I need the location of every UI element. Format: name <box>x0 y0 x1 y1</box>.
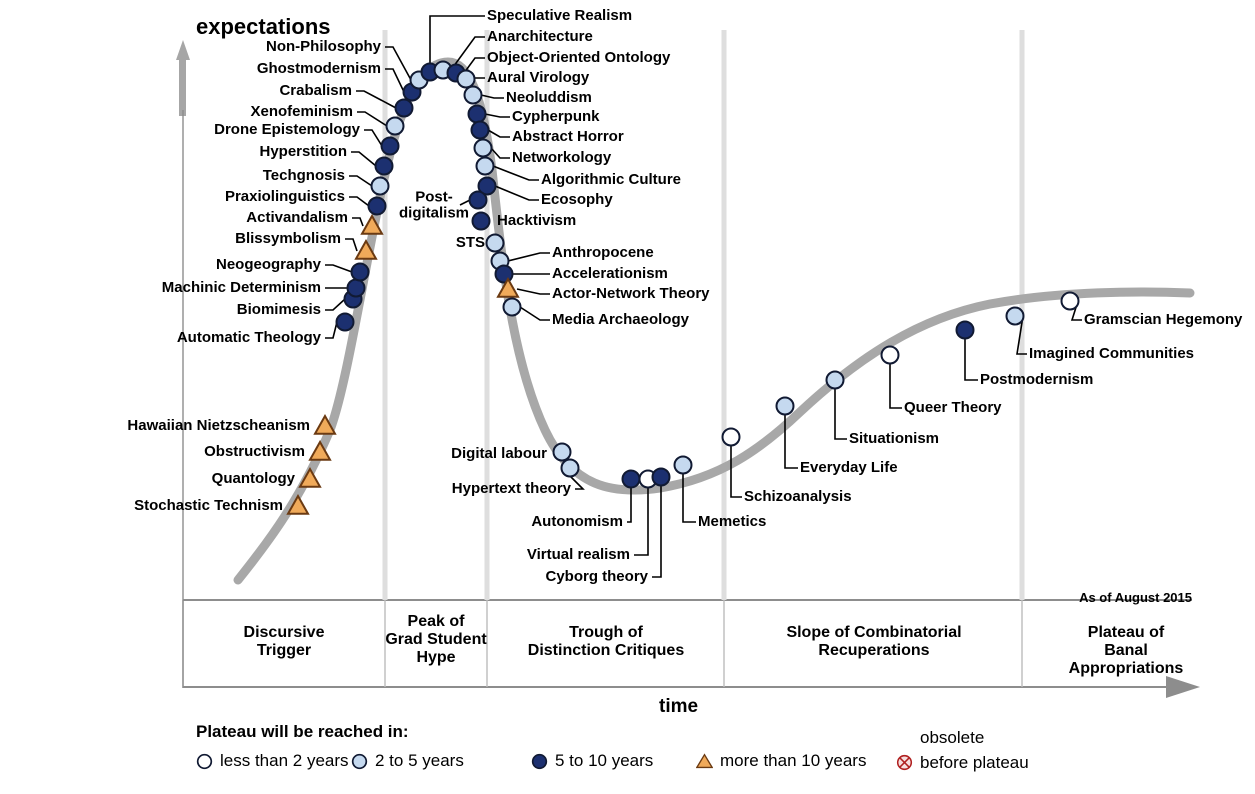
triangle-orange-icon <box>696 753 713 770</box>
marker-drone-epistemology[interactable] <box>382 138 399 155</box>
marker-situationism[interactable] <box>827 372 844 389</box>
leader-line-crabalism <box>356 91 396 108</box>
label-post-digitalism: Post-digitalism <box>399 189 469 221</box>
marker-media-archaeology[interactable] <box>504 299 521 316</box>
phase-plateau-banal-appropriations-line-0: Plateau of <box>1062 624 1191 642</box>
label-machinic-determinism: Machinic Determinism <box>162 280 321 296</box>
x-axis-title: time <box>659 696 698 718</box>
circle-open-icon <box>196 753 213 770</box>
marker-automatic-theology[interactable] <box>337 314 354 331</box>
leader-line-neoluddism <box>481 95 504 98</box>
label-praxiolinguistics: Praxiolinguistics <box>225 189 345 205</box>
leader-line-techgnosis <box>349 176 372 186</box>
leader-line-actor-network-theory <box>517 289 550 294</box>
leader-line-algorithmic-culture <box>493 166 539 180</box>
phase-trough-distinction-critiques-line-0: Trough of <box>528 624 684 642</box>
circle-light-icon <box>351 753 368 770</box>
label-obstructivism: Obstructivism <box>204 444 305 460</box>
phase-peak-grad-student-hype-line-1: Grad Student <box>385 631 486 649</box>
label-biomimesis: Biomimesis <box>237 302 321 318</box>
leader-line-ecosophy <box>495 186 539 200</box>
leader-line-cyborg-theory <box>652 486 661 577</box>
phase-peak-grad-student-hype-line-0: Peak of <box>385 613 486 631</box>
phase-discursive-trigger: DiscursiveTrigger <box>244 624 325 660</box>
label-crabalism: Crabalism <box>279 83 352 99</box>
legend-obsolete-line1: obsolete <box>920 729 984 747</box>
label-virtual-realism: Virtual realism <box>527 547 630 563</box>
leader-line-hyperstition <box>351 152 376 166</box>
legend-item-2-to-5-years[interactable]: 2 to 5 years <box>351 751 464 771</box>
label-situationism: Situationism <box>849 431 939 447</box>
label-sts: STS <box>456 235 485 251</box>
label-drone-epistemology: Drone Epistemology <box>214 122 360 138</box>
hype-cycle-chart: expectations time As of August 2015 Stoc… <box>0 0 1255 794</box>
marker-schizoanalysis[interactable] <box>723 429 740 446</box>
leader-line-activandalism <box>352 218 363 226</box>
marker-imagined-communities[interactable] <box>1007 308 1024 325</box>
marker-hypertext-theory[interactable] <box>562 460 579 477</box>
leader-line-biomimesis <box>325 299 345 310</box>
marker-praxiolinguistics[interactable] <box>369 198 386 215</box>
marker-cyborg-theory[interactable] <box>653 469 670 486</box>
leader-line-praxiolinguistics <box>349 197 369 206</box>
obsolete-circle-cross-icon <box>896 754 913 771</box>
leader-line-automatic-theology <box>325 322 337 338</box>
label-hacktivism: Hacktivism <box>497 213 576 229</box>
label-algorithmic-culture: Algorithmic Culture <box>541 172 681 188</box>
leader-line-anthropocene <box>508 253 550 261</box>
leader-line-virtual-realism <box>634 488 648 555</box>
marker-cypherpunk[interactable] <box>469 106 486 123</box>
label-non-philosophy: Non-Philosophy <box>266 39 381 55</box>
label-actor-network-theory: Actor-Network Theory <box>552 286 710 302</box>
label-networkology: Networkology <box>512 150 611 166</box>
label-techgnosis: Techgnosis <box>263 168 345 184</box>
label-speculative-realism: Speculative Realism <box>487 8 632 24</box>
leader-line-ghostmodernism <box>385 69 404 92</box>
legend-item-obsolete-before-plateau[interactable]: obsoletebefore plateau <box>896 729 1029 772</box>
leader-line-drone-epistemology <box>364 130 382 146</box>
label-everyday-life: Everyday Life <box>800 460 898 476</box>
marker-hacktivism[interactable] <box>473 213 490 230</box>
marker-algorithmic-culture[interactable] <box>477 158 494 175</box>
label-abstract-horror: Abstract Horror <box>512 129 624 145</box>
marker-hyperstition[interactable] <box>376 158 393 175</box>
legend-items: less than 2 years2 to 5 years5 to 10 yea… <box>196 751 1226 785</box>
marker-digital-labour[interactable] <box>554 444 571 461</box>
marker-neoluddism[interactable] <box>465 87 482 104</box>
marker-gramscian-hegemony[interactable] <box>1062 293 1079 310</box>
phase-discursive-trigger-line-0: Discursive <box>244 624 325 642</box>
as-of-date: As of August 2015 <box>1079 590 1192 605</box>
phase-discursive-trigger-line-1: Trigger <box>244 642 325 660</box>
phase-trough-distinction-critiques-line-1: Distinction Critiques <box>528 642 684 660</box>
leader-line-blissymbolism <box>345 239 357 251</box>
label-digital-labour: Digital labour <box>451 446 547 462</box>
leader-line-situationism <box>835 389 847 439</box>
legend-item-label: more than 10 years <box>720 751 866 771</box>
marker-neogeography[interactable] <box>352 264 369 281</box>
marker-memetics[interactable] <box>675 457 692 474</box>
leader-line-non-philosophy <box>385 47 411 80</box>
label-cyborg-theory: Cyborg theory <box>545 569 648 585</box>
phase-plateau-banal-appropriations: Plateau ofBanal Appropriations <box>1062 624 1191 678</box>
label-autonomism: Autonomism <box>531 514 623 530</box>
phase-slope-combinatorial-recuperations-line-1: Recuperations <box>786 642 961 660</box>
label-anarchitecture: Anarchitecture <box>487 29 593 45</box>
marker-queer-theory[interactable] <box>882 347 899 364</box>
marker-aural-virology[interactable] <box>458 71 475 88</box>
marker-networkology[interactable] <box>475 140 492 157</box>
marker-techgnosis[interactable] <box>372 178 389 195</box>
marker-autonomism[interactable] <box>623 471 640 488</box>
label-neogeography: Neogeography <box>216 257 321 273</box>
label-stochastic-technism: Stochastic Technism <box>134 498 283 514</box>
phase-plateau-banal-appropriations-line-1: Banal Appropriations <box>1062 642 1191 678</box>
label-object-oriented-ontology: Object-Oriented Ontology <box>487 50 670 66</box>
phase-peak-grad-student-hype-line-2: Hype <box>385 649 486 667</box>
y-axis-arrow <box>176 40 190 600</box>
label-queer-theory: Queer Theory <box>904 400 1002 416</box>
label-blissymbolism: Blissymbolism <box>235 231 341 247</box>
label-postmodernism: Postmodernism <box>980 372 1093 388</box>
legend-item-more-than-10-years[interactable]: more than 10 years <box>696 751 866 771</box>
label-schizoanalysis: Schizoanalysis <box>744 489 852 505</box>
legend-obsolete-line2: before plateau <box>920 754 1029 772</box>
phase-slope-combinatorial-recuperations: Slope of CombinatorialRecuperations <box>786 624 961 660</box>
leader-line-media-archaeology <box>520 307 550 320</box>
label-accelerationism: Accelerationism <box>552 266 668 282</box>
circle-dark-icon <box>531 753 548 770</box>
marker-everyday-life[interactable] <box>777 398 794 415</box>
legend-item-less-than-2-years[interactable]: less than 2 years <box>196 751 349 771</box>
phase-slope-combinatorial-recuperations-line-0: Slope of Combinatorial <box>786 624 961 642</box>
label-cypherpunk: Cypherpunk <box>512 109 600 125</box>
label-imagined-communities: Imagined Communities <box>1029 346 1194 362</box>
legend-item-label: 5 to 10 years <box>555 751 653 771</box>
legend: Plateau will be reached in: less than 2 … <box>196 722 1226 785</box>
label-quantology: Quantology <box>212 471 295 487</box>
marker-sts[interactable] <box>487 235 504 252</box>
label-gramscian-hegemony: Gramscian Hegemony <box>1084 312 1242 328</box>
leader-line-neogeography <box>325 265 352 272</box>
label-hyperstition: Hyperstition <box>259 144 347 160</box>
x-axis-arrow <box>183 600 1200 698</box>
label-memetics: Memetics <box>698 514 766 530</box>
legend-item-5-to-10-years[interactable]: 5 to 10 years <box>531 751 653 771</box>
label-ecosophy: Ecosophy <box>541 192 613 208</box>
label-media-archaeology: Media Archaeology <box>552 312 689 328</box>
marker-xenofeminism[interactable] <box>387 118 404 135</box>
hype-curve-line <box>238 62 1190 580</box>
legend-title: Plateau will be reached in: <box>196 722 1226 742</box>
phase-trough-distinction-critiques: Trough ofDistinction Critiques <box>528 624 684 660</box>
label-hypertext-theory: Hypertext theory <box>452 481 571 497</box>
legend-item-label: less than 2 years <box>220 751 349 771</box>
label-ghostmodernism: Ghostmodernism <box>257 61 381 77</box>
y-axis-title: expectations <box>196 14 331 40</box>
label-activandalism: Activandalism <box>246 210 348 226</box>
leader-line-postmodernism <box>965 339 978 380</box>
marker-accelerationism[interactable] <box>496 266 513 283</box>
legend-item-label: 2 to 5 years <box>375 751 464 771</box>
marker-crabalism[interactable] <box>396 100 413 117</box>
label-automatic-theology: Automatic Theology <box>177 330 321 346</box>
legend-obsolete-line2-row: before plateau <box>896 754 1029 772</box>
label-hawaiian-nietzscheanism: Hawaiian Nietzscheanism <box>127 418 310 434</box>
label-xenofeminism: Xenofeminism <box>250 104 353 120</box>
phase-peak-grad-student-hype: Peak ofGrad StudentHype <box>385 613 486 667</box>
label-anthropocene: Anthropocene <box>552 245 654 261</box>
marker-postmodernism[interactable] <box>957 322 974 339</box>
leader-line-queer-theory <box>890 364 902 408</box>
marker-post-digitalism[interactable] <box>470 192 487 209</box>
label-aural-virology: Aural Virology <box>487 70 589 86</box>
leader-line-aural-virology <box>474 78 485 79</box>
label-neoluddism: Neoluddism <box>506 90 592 106</box>
marker-abstract-horror[interactable] <box>472 122 489 139</box>
marker-machinic-determinism[interactable] <box>348 280 365 297</box>
